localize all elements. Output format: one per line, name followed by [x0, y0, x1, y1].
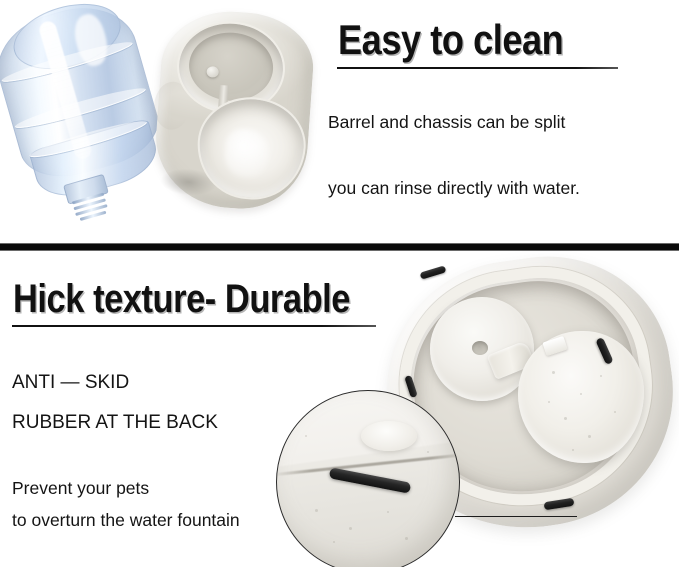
product-infographic: Easy to clean Barrel and chassis can be … — [0, 0, 679, 567]
texture-speck — [349, 527, 352, 530]
underside-drain-hole — [472, 341, 488, 355]
bottom-body-line-1: ANTI — SKID — [12, 372, 129, 394]
section-easy-to-clean: Easy to clean Barrel and chassis can be … — [0, 0, 679, 245]
magnified-seam — [276, 453, 460, 477]
top-body-line-2: you can rinse directly with water. — [328, 178, 580, 199]
texture-speck — [548, 401, 550, 403]
rubber-pad — [420, 265, 447, 279]
texture-speck — [600, 375, 602, 377]
rubber-pad-magnifier — [276, 390, 460, 567]
texture-speck — [333, 541, 335, 543]
texture-speck — [564, 417, 567, 420]
texture-speck — [427, 451, 429, 453]
magnified-bump — [361, 421, 417, 451]
reservoir-well-inner — [187, 30, 276, 104]
headline-easy-to-clean: Easy to clean — [338, 16, 563, 64]
texture-speck — [580, 393, 582, 395]
texture-speck — [588, 435, 591, 438]
headline-underline — [337, 67, 618, 69]
fountain-base-image — [151, 7, 316, 215]
bottom-body-line-2: RUBBER AT THE BACK — [12, 412, 218, 434]
texture-speck — [572, 449, 574, 451]
underside-oval-bowl — [518, 331, 644, 463]
callout-leader-line — [455, 516, 577, 517]
texture-speck — [305, 435, 307, 437]
headline-hick-texture-durable: Hick texture- Durable — [13, 277, 350, 322]
headline-underline — [12, 325, 376, 327]
texture-speck — [315, 509, 318, 512]
texture-speck — [387, 511, 389, 513]
texture-speck — [552, 371, 555, 374]
bottom-sub-line-2: to overturn the water fountain — [12, 510, 240, 531]
bottle-and-base-photo — [0, 0, 320, 235]
magnified-rubber-pad — [329, 467, 412, 493]
texture-speck — [405, 537, 408, 540]
bowl-sheen — [223, 128, 270, 179]
texture-speck — [614, 411, 616, 413]
top-body-line-1: Barrel and chassis can be split — [328, 112, 565, 133]
bottom-sub-line-1: Prevent your pets — [12, 478, 149, 499]
